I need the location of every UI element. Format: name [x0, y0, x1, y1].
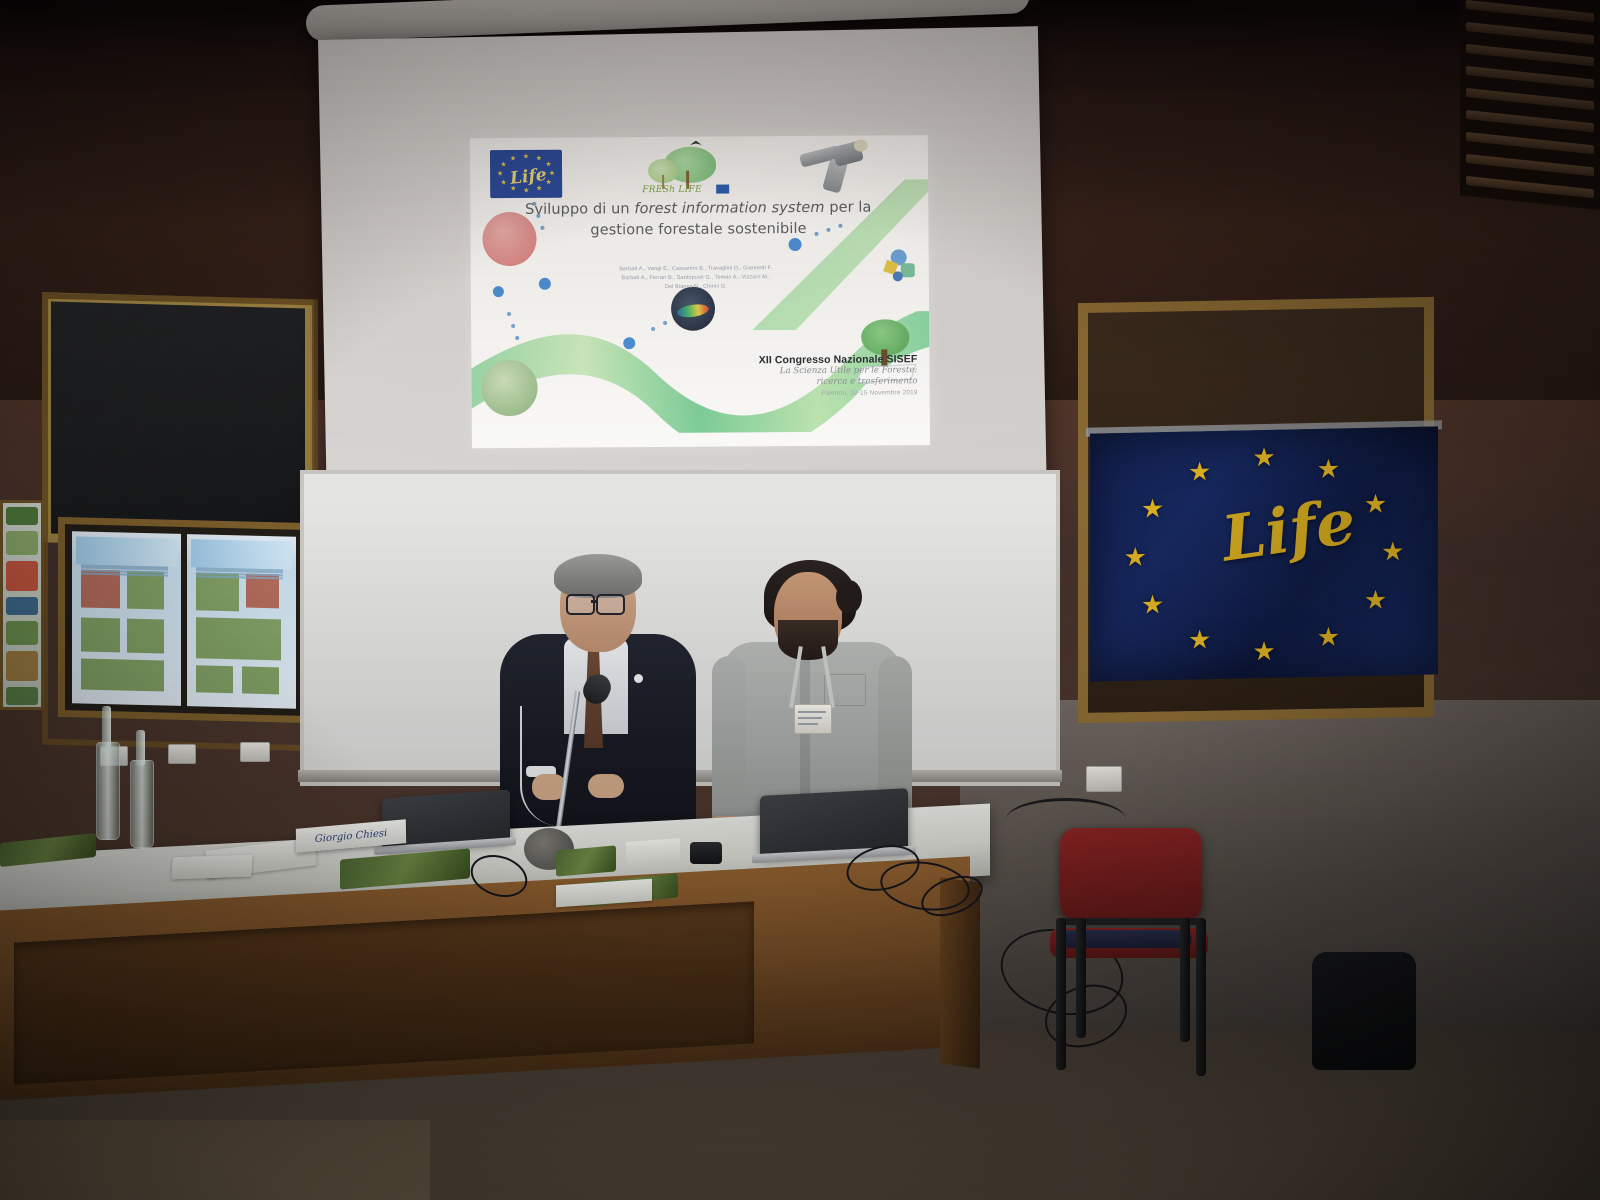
vent-louver [1466, 22, 1594, 44]
eu-star-icon: ★ [536, 155, 542, 162]
poster-thumbnail [6, 597, 38, 615]
blackboard [42, 292, 314, 550]
poster-thumbnail [6, 651, 38, 681]
poster-thumbnail [6, 561, 38, 591]
eu-star-icon: ★ [1381, 538, 1404, 564]
small-white-box[interactable] [626, 838, 680, 872]
eu-star-icon: ★ [545, 179, 551, 186]
eu-star-icon: ★ [1188, 626, 1211, 652]
poster-figure [81, 617, 120, 652]
black-bin-bag [1312, 952, 1416, 1070]
poster-header [191, 539, 291, 569]
blackboard-surface [51, 301, 305, 540]
eu-star-icon: ★ [545, 162, 551, 169]
slide-authors: Barbati A., Vangi E., Cassarino B., Trav… [541, 264, 851, 292]
microphone-cable [520, 706, 562, 826]
scientific-poster [72, 531, 181, 706]
scientific-poster [187, 534, 296, 709]
eu-star-icon: ★ [536, 185, 542, 192]
path-dot [493, 286, 504, 297]
vent-louver [1466, 66, 1594, 88]
lapel-pin [634, 674, 643, 683]
poster-thumbnail [6, 687, 38, 705]
poster-figure [81, 659, 164, 692]
path-dot [623, 337, 635, 349]
green-sample-pack[interactable] [556, 845, 616, 876]
thumbnail-canopy [481, 360, 537, 416]
water-bottle-short[interactable] [130, 760, 154, 848]
glasses-bridge [591, 600, 597, 603]
poster-figure [196, 665, 233, 693]
printed-papers[interactable] [171, 855, 252, 880]
slide-title-italic1: forest information [634, 200, 767, 217]
right-hand [588, 774, 624, 798]
eu-star-icon: ★ [1124, 543, 1147, 569]
eu-life-flag: Life ★★★★★★★★★★★★ [1090, 426, 1438, 681]
slide-title-part3: sostenibile [727, 221, 806, 238]
congress-date: Palermo, 12-15 Novembre 2019 [694, 389, 918, 398]
beard [778, 620, 838, 660]
congress-block: XII Congresso Nazionale SISEF La Scienza… [693, 353, 917, 398]
freshlife-wordmark: FRESh LIFE [642, 185, 702, 195]
vent-louver [1466, 110, 1594, 132]
poster-figure [196, 617, 281, 660]
wall-outlet[interactable] [240, 742, 270, 762]
poster-thumbnail [6, 621, 38, 645]
power-adapter[interactable] [690, 842, 722, 864]
vent-louver [1466, 44, 1594, 66]
water-bottle-short-neck [136, 730, 145, 766]
eu-star-icon: ★ [1364, 587, 1387, 613]
water-bottle-tall[interactable] [96, 742, 120, 840]
wall-poster-strip [0, 500, 44, 710]
eu-star-icon: ★ [1141, 495, 1164, 521]
eu-star-icon: ★ [523, 153, 529, 160]
vent-louver [1466, 132, 1594, 154]
vent-louver [1466, 88, 1594, 110]
name-placard-text: Giorgio Chiesi [315, 827, 388, 844]
eu-star-icon: ★ [510, 185, 516, 192]
poster-header [76, 537, 176, 567]
eu-life-badge-icon: Life ★★★★★★★★★★★★ [490, 150, 562, 199]
eu-star-icon: ★ [510, 156, 516, 163]
poster-thumbnail [6, 507, 38, 525]
vent-louver [1466, 154, 1594, 176]
conference-badge [794, 704, 832, 734]
glasses-left-lens [566, 594, 595, 615]
floor-foreground [0, 1120, 430, 1200]
eu-star-icon: ★ [1141, 591, 1164, 617]
lecture-hall-photo: Life ★★★★★★★★★★★★ Life ★★★★★★★★★★★★ FRES… [0, 0, 1600, 1200]
drone-uav-icon [800, 137, 878, 192]
slide-title-part1: Sviluppo di un [525, 201, 634, 218]
slide-title-italic2: system [772, 200, 825, 216]
poster-thumbnail [6, 531, 38, 555]
hair-bun [836, 580, 862, 614]
path-dot [789, 238, 802, 251]
scientific-poster-display-case [58, 517, 310, 723]
slide-title: Sviluppo di un forest information system… [518, 197, 878, 241]
eu-star-icon: ★ [523, 188, 529, 195]
left-arm [712, 656, 746, 832]
flag-life-wordmark: Life [1218, 485, 1359, 576]
eu-star-icon: ★ [549, 170, 555, 177]
thumbnail-heatmap [671, 287, 715, 331]
hair [554, 554, 642, 598]
eu-star-icon: ★ [1364, 490, 1387, 516]
congress-subtitle-2: ricerca e trasferimento [694, 376, 918, 389]
eu-star-icon: ★ [500, 162, 506, 169]
projection-screen: Life ★★★★★★★★★★★★ FRESh LIFE [318, 26, 1047, 538]
poster-figure [127, 619, 164, 654]
wall-outlet[interactable] [1086, 766, 1122, 792]
glasses-right-lens [596, 594, 625, 615]
eu-star-icon: ★ [1317, 456, 1340, 482]
eu-star-icon: ★ [1252, 444, 1275, 470]
red-stacking-chair-back[interactable] [1060, 828, 1202, 920]
vent-louver [1466, 0, 1594, 22]
presentation-slide: Life ★★★★★★★★★★★★ FRESh LIFE [470, 135, 930, 448]
eu-star-icon: ★ [501, 179, 507, 186]
eu-star-icon: ★ [1317, 623, 1340, 649]
vent-louver [1466, 176, 1594, 198]
wall-outlet[interactable] [168, 744, 196, 764]
wall-cable [1006, 798, 1126, 841]
eu-star-icon: ★ [1252, 637, 1275, 663]
freshlife-chip [716, 185, 729, 194]
poster-figure [242, 666, 279, 694]
eu-star-icon: ★ [497, 171, 503, 178]
eu-star-icon: ★ [1188, 458, 1211, 484]
water-bottle-tall-neck [102, 706, 111, 748]
ceiling-vent-louvers [1460, 0, 1600, 210]
freshlife-tree-logo-icon: FRESh LIFE [638, 140, 748, 199]
abstract-data-icon [883, 245, 923, 285]
